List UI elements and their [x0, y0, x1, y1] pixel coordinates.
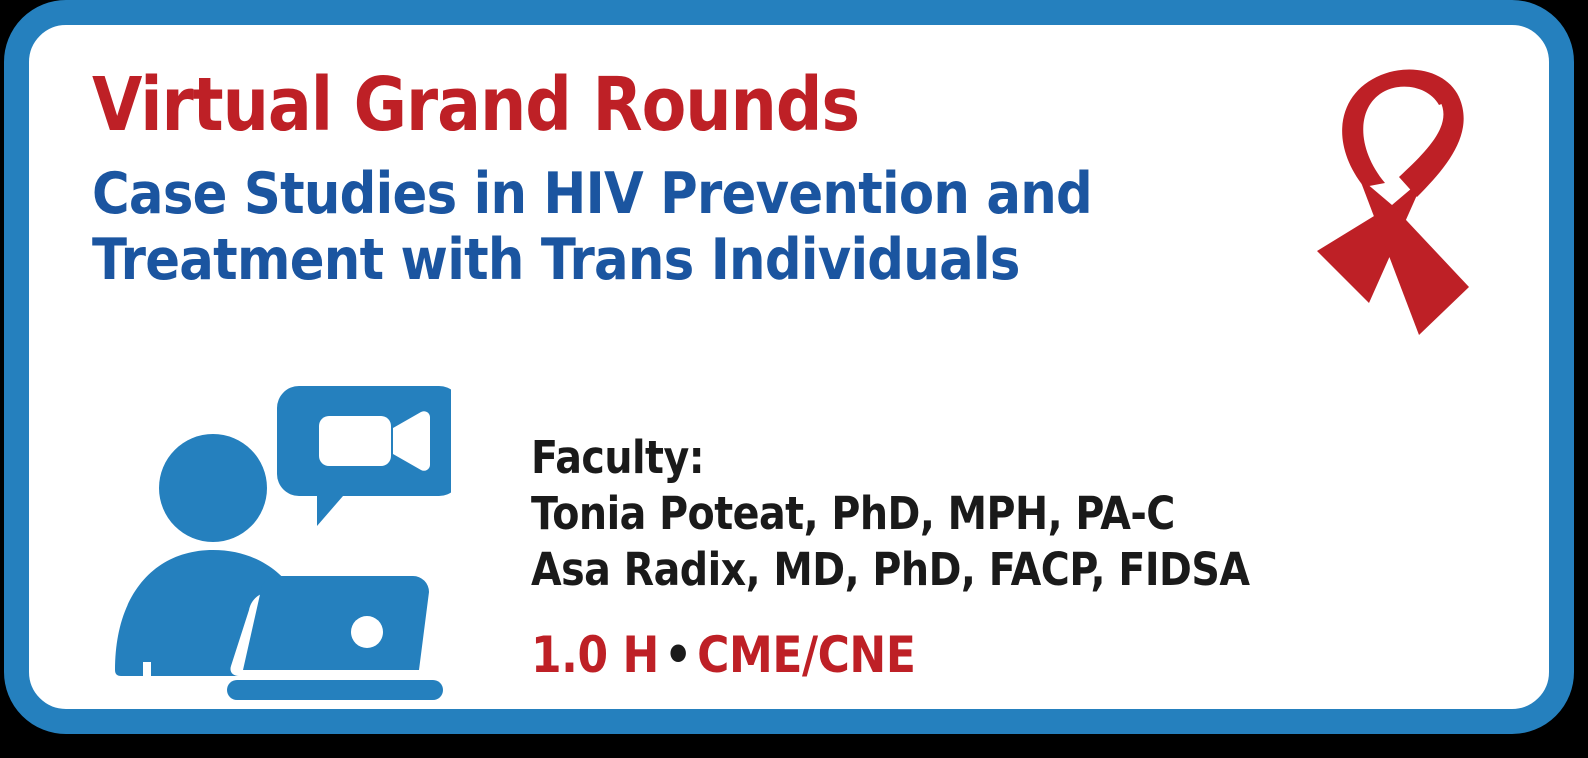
- promo-card: Virtual Grand Rounds Case Studies in HIV…: [4, 0, 1574, 734]
- faculty-heading: Faculty:: [531, 430, 1323, 486]
- page-subtitle-line-1: Case Studies in HIV Prevention and: [92, 161, 1092, 227]
- faculty-member-2: Asa Radix, MD, PhD, FACP, FIDSA: [531, 542, 1323, 598]
- credit-line: 1.0 H•CME/CNE: [531, 598, 1323, 684]
- page-title: Virtual Grand Rounds: [92, 63, 1078, 147]
- credit-hours: 1.0 H: [531, 626, 659, 684]
- headline-block: Virtual Grand Rounds Case Studies in HIV…: [92, 63, 1212, 293]
- aids-ribbon-icon: [1307, 55, 1477, 335]
- presenter-video-icon: [91, 380, 451, 710]
- credit-types: CME/CNE: [697, 626, 915, 684]
- credit-separator-icon: •: [659, 626, 697, 684]
- page-subtitle-line-2: Treatment with Trans Individuals: [92, 227, 1100, 293]
- page-subtitle: Case Studies in HIV Prevention and Treat…: [92, 147, 1100, 293]
- faculty-member-1: Tonia Poteat, PhD, MPH, PA-C: [531, 486, 1323, 542]
- faculty-block: Faculty: Tonia Poteat, PhD, MPH, PA-C As…: [531, 430, 1431, 684]
